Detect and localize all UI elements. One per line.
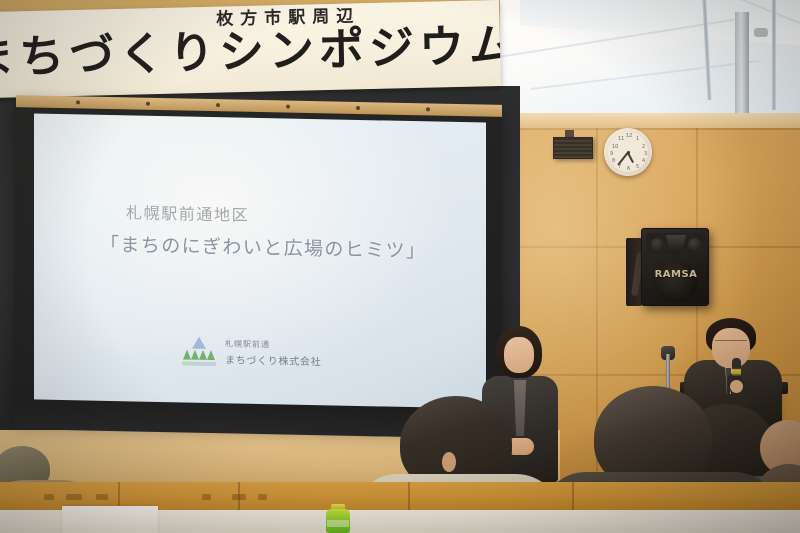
clock-numeral: 11 [618, 136, 624, 142]
clock-numeral: 2 [642, 144, 645, 150]
speaker-tweeter [651, 238, 664, 251]
glasses-icon [715, 340, 747, 347]
rail-dot [426, 107, 430, 111]
clock-numeral: 4 [642, 158, 645, 164]
rail-dot [216, 103, 220, 107]
event-banner: 枚方市駅周辺 まちづくりシンポジウム [0, 0, 501, 98]
clock-numeral: 5 [636, 164, 639, 170]
table-mark [232, 494, 246, 500]
table-mark [44, 494, 54, 500]
logo-tree-icon [207, 350, 215, 360]
ceiling-sensor-icon [754, 28, 768, 37]
rail-dot [356, 106, 360, 110]
window-ledge [500, 113, 800, 129]
banner-title: まちづくりシンポジウム [0, 21, 501, 81]
woman-face [504, 337, 534, 373]
mountain-logo-icon [182, 336, 216, 367]
clock-numeral: 10 [612, 144, 618, 150]
clock-face: 12 1 2 3 4 5 6 7 8 9 10 11 [608, 132, 648, 172]
clock-numeral: 12 [626, 133, 632, 139]
speaker-brand-label: RAMSA [642, 269, 710, 280]
logo-line-1: 札幌駅前通 [225, 338, 321, 351]
clock-minute-hand [618, 152, 629, 166]
projected-slide: 札幌駅前通地区 「まちのにぎわいと広場のヒミツ」 札幌駅前通 まちづくり株式会社 [34, 113, 486, 410]
logo-line-2: まちづくり株式会社 [225, 351, 321, 368]
logo-text-block: 札幌駅前通 まちづくり株式会社 [225, 338, 321, 368]
clock-numeral: 1 [636, 136, 639, 142]
window-post [735, 12, 749, 127]
green-bottle [326, 504, 350, 533]
slide-heading: 札幌駅前通地区 [126, 199, 249, 225]
clock-hour-hand [627, 153, 634, 164]
bottle-label [327, 520, 349, 527]
table-mark [202, 494, 211, 500]
clock-numeral: 6 [627, 166, 630, 172]
speaker-woofer [654, 261, 698, 303]
table-mark [258, 494, 267, 500]
logo-tree-icon [183, 349, 191, 359]
logo-tree-icon [191, 350, 199, 360]
atrium-window [500, 0, 800, 128]
table-seam [572, 482, 574, 512]
papers-on-table [62, 506, 158, 533]
slide-logo: 札幌駅前通 まちづくり株式会社 [182, 336, 321, 369]
window-mullion [772, 0, 776, 110]
photo-scene: 枚方市駅周辺 まちづくりシンポジウム 札幌駅前通地区 「まちのにぎわいと広場のヒ… [0, 0, 800, 533]
window-beam [531, 60, 760, 90]
speaker-tweeter [688, 238, 701, 251]
logo-tree-icon [199, 350, 207, 360]
clock-center-pin [627, 151, 630, 154]
logo-peak-icon [192, 337, 206, 349]
table-mark [66, 494, 82, 500]
presenter-face [712, 328, 750, 368]
rail-dot [286, 105, 290, 109]
wall-vent-grille-icon [553, 137, 593, 159]
clock-numeral: 8 [612, 158, 615, 164]
logo-micro-text [182, 361, 216, 366]
wall-clock: 12 1 2 3 4 5 6 7 8 9 10 11 [604, 128, 652, 176]
ramsa-speaker: RAMSA [641, 228, 709, 306]
rail-dot [76, 100, 80, 104]
clock-numeral: 9 [610, 151, 613, 157]
table-seam [408, 482, 410, 512]
clock-numeral: 3 [644, 151, 647, 157]
table-mark [96, 494, 108, 500]
rail-dot [146, 102, 150, 106]
audience-ear [442, 452, 456, 472]
